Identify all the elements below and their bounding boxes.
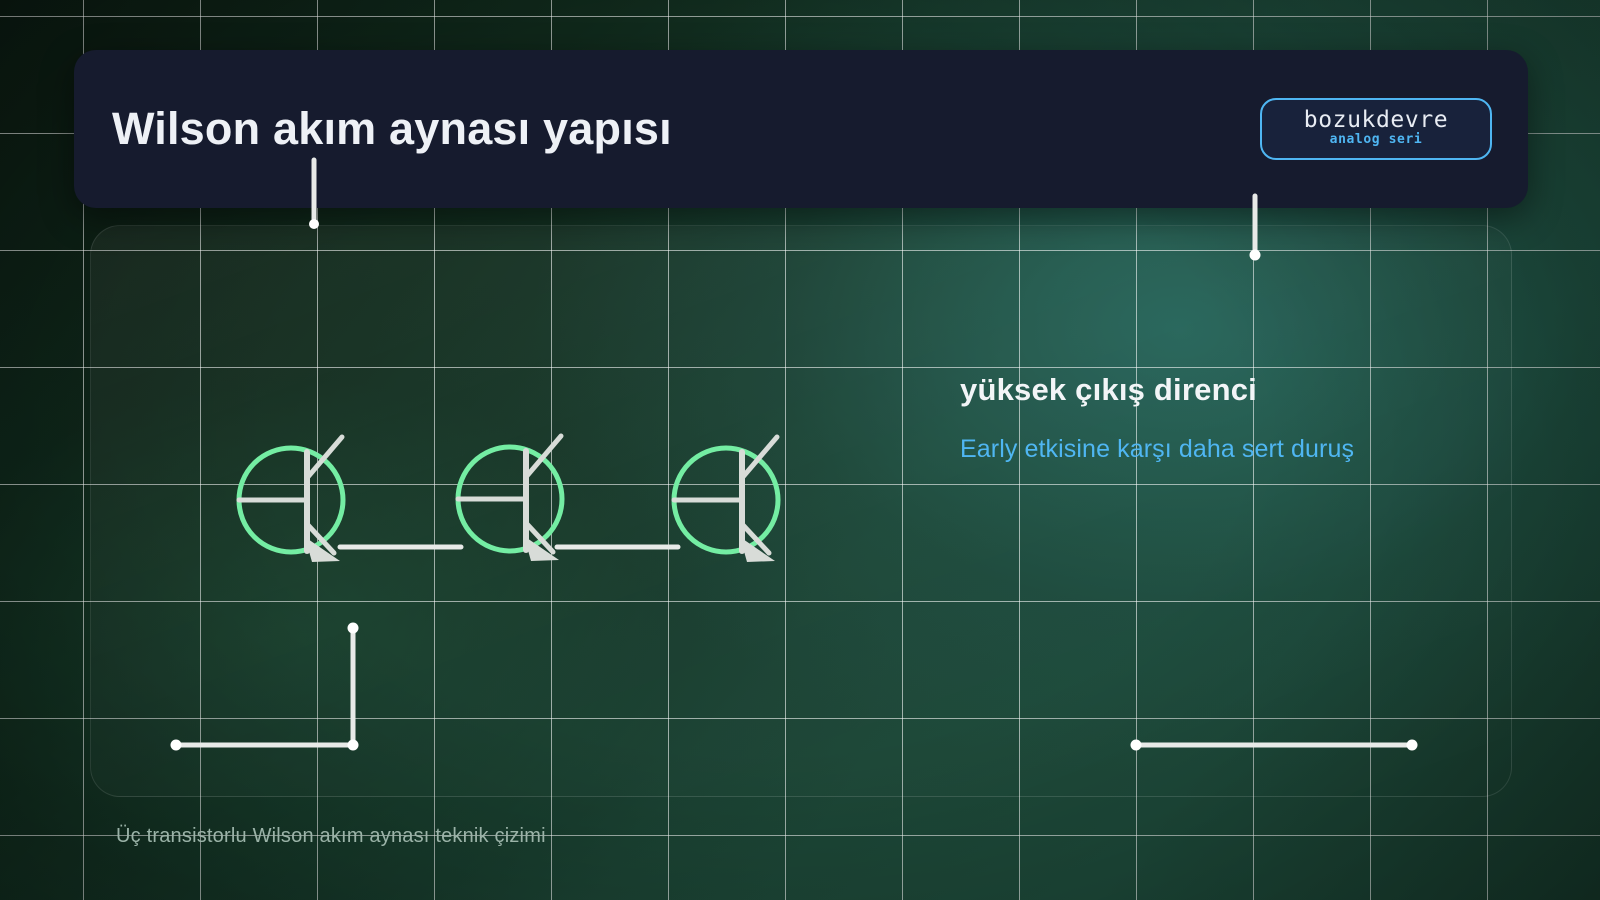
node-dot-left-end — [171, 740, 182, 751]
brand-badge-name: bozukdevre — [1284, 108, 1468, 134]
transistor-q1-emitter-lead — [307, 524, 334, 553]
brand-badge[interactable]: bozukdevre analog seri — [1260, 98, 1492, 161]
transistor-q2-envelope — [458, 447, 562, 551]
page-title: Wilson akım aynası yapısı — [112, 103, 672, 155]
transistor-q2-emitter-lead — [526, 523, 553, 552]
callout-subtext: Early etkisine karşı daha sert duruş — [960, 435, 1480, 464]
transistor-q3-collector-lead — [742, 437, 777, 478]
transistor-q2-collector-lead — [526, 436, 561, 477]
transistor-q1-collector-lead — [307, 437, 342, 478]
node-dot-left-corner — [348, 740, 359, 751]
node-dot-top-right — [1250, 250, 1261, 261]
transistor-q1-envelope — [239, 448, 343, 552]
node-dots — [171, 219, 1418, 751]
callout-heading: yüksek çıkış direnci — [960, 372, 1480, 408]
figure-caption: Üç transistorlu Wilson akım aynası tekni… — [116, 825, 546, 848]
slide-canvas: Wilson akım aynası yapısı bozukdevre ana… — [0, 0, 1600, 900]
node-dot-left-top — [348, 623, 359, 634]
transistor-q3-envelope — [674, 448, 778, 552]
transistor-q3-emitter-arrow — [740, 537, 775, 562]
node-dot-right-end — [1407, 740, 1418, 751]
content-panel — [90, 225, 1512, 797]
transistor-q2-emitter-arrow — [524, 536, 559, 561]
transistor-q3 — [674, 437, 778, 562]
header-bar: Wilson akım aynası yapısı bozukdevre ana… — [74, 50, 1528, 208]
node-dot-top-left — [309, 219, 319, 229]
transistor-q3-emitter-lead — [742, 524, 769, 553]
transistor-q1 — [239, 437, 343, 562]
callout-block: yüksek çıkış direnci Early etkisine karş… — [960, 372, 1480, 464]
transistor-q1-emitter-arrow — [305, 537, 340, 562]
transistor-q2 — [458, 436, 562, 561]
node-dot-right-start — [1131, 740, 1142, 751]
brand-badge-series: analog seri — [1284, 133, 1468, 148]
